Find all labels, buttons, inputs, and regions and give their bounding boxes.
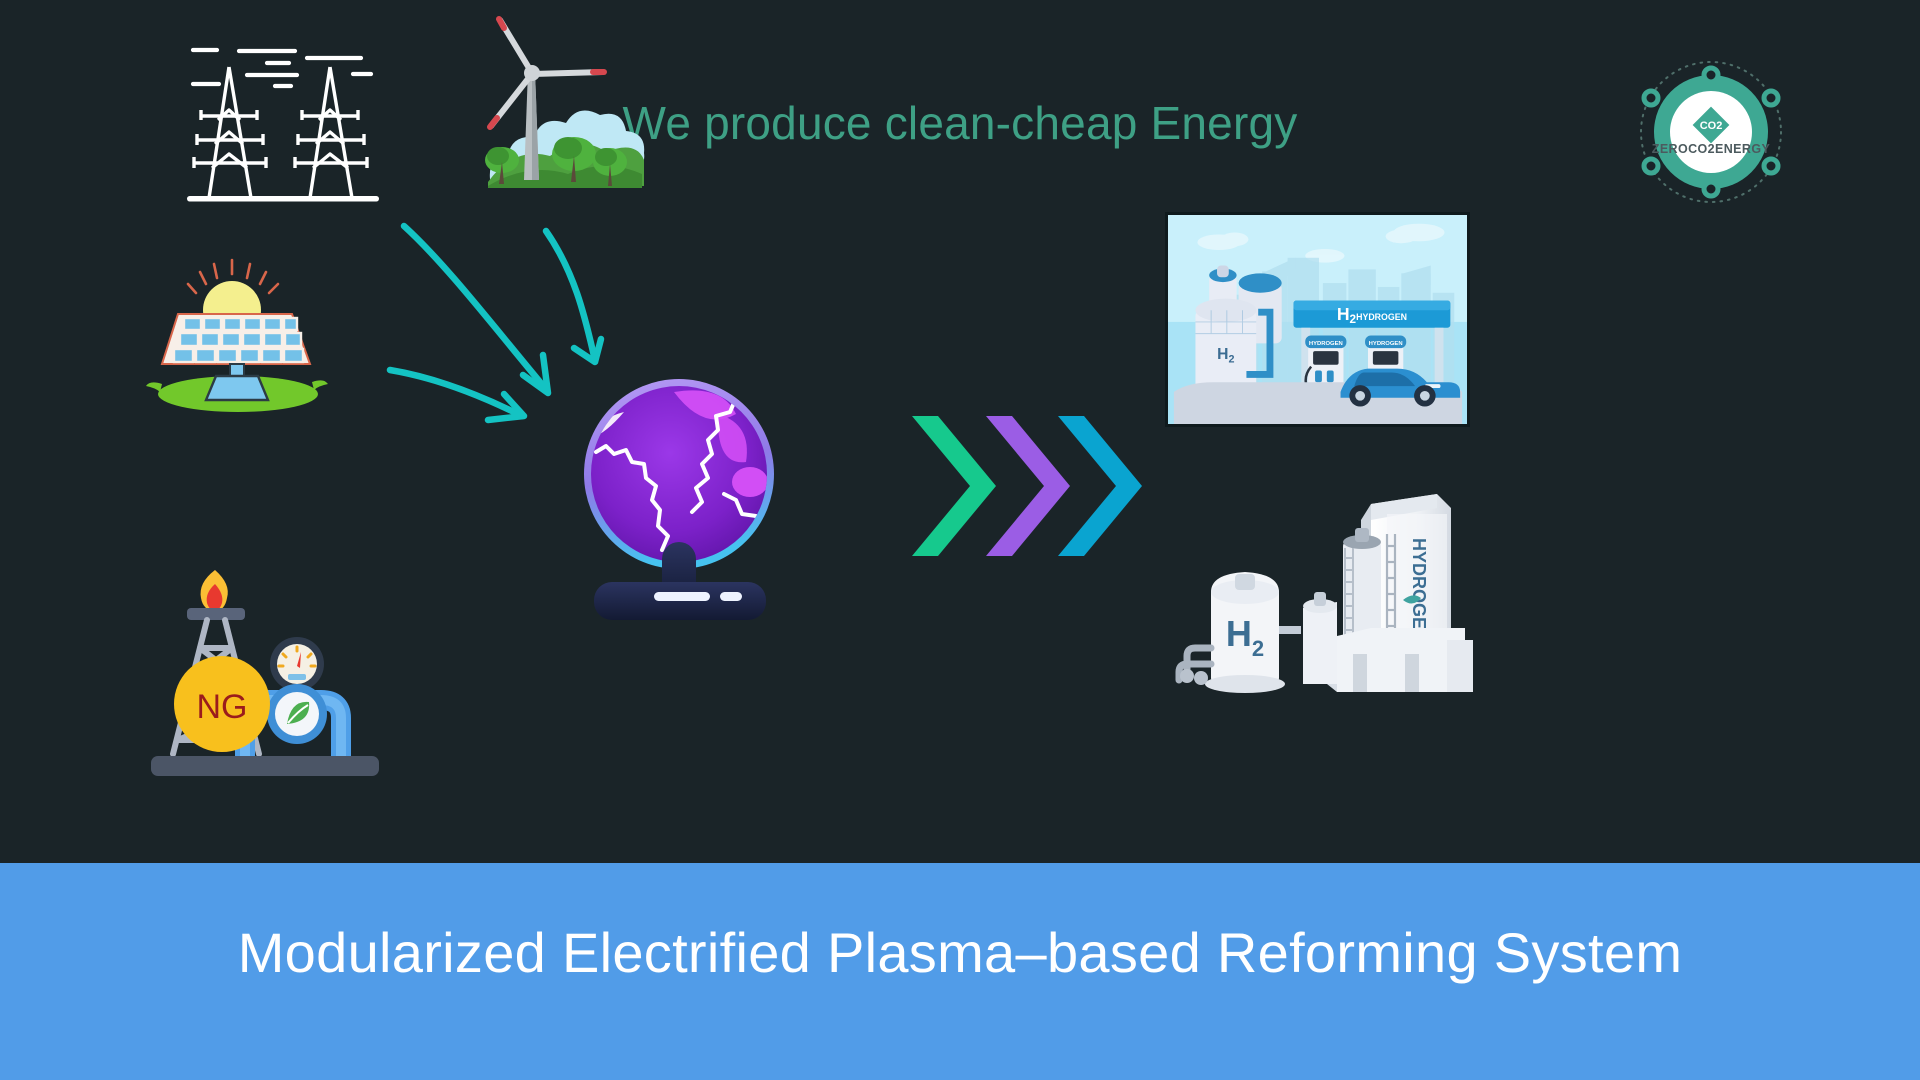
- chevron-cyan-icon: [1058, 416, 1142, 556]
- zeroco2energy-logo[interactable]: CO2 ZEROCO2ENERGY: [1606, 58, 1816, 206]
- banner-title: Modularized Electrified Plasma–based Ref…: [0, 920, 1920, 985]
- pump-label-right: HYDROGEN: [1369, 341, 1403, 347]
- ng-badge-label: NG: [197, 688, 248, 726]
- hydrogen-fueling-station-image: H2 H2HYDROGEN HYDROGEN: [1165, 212, 1470, 427]
- logo-wordmark: ZEROCO2ENERGY: [1652, 142, 1771, 156]
- canopy-sign-word: HYDROGEN: [1356, 312, 1407, 322]
- bottom-banner: Modularized Electrified Plasma–based Ref…: [0, 863, 1920, 1080]
- chevron-purple-icon: [986, 416, 1070, 556]
- logo-badge-label: CO2: [1700, 120, 1723, 132]
- pump-label-left: HYDROGEN: [1309, 341, 1343, 347]
- hydrogen-production-plant-icon: HYDROGEN: [1175, 478, 1475, 718]
- plasma-reactor-icon: [578, 370, 796, 630]
- logo-icon: CO2 ZEROCO2ENERGY: [1606, 58, 1816, 206]
- canopy-sign-symbol: H: [1337, 304, 1350, 324]
- conversion-flow-chevrons: [910, 412, 1142, 560]
- wind-turbine-icon: [462, 14, 667, 200]
- station-tank-label: H: [1217, 346, 1228, 363]
- plant-building-label: HYDROGEN: [1409, 538, 1429, 642]
- solar-panel-icon: [140, 258, 340, 418]
- power-transmission-towers-icon: [175, 32, 390, 214]
- chevron-green-icon: [912, 416, 996, 556]
- plant-tank-sub: 2: [1252, 636, 1264, 661]
- station-tank-sub: 2: [1229, 354, 1235, 366]
- plant-tank-label: H: [1226, 613, 1252, 654]
- slide-canvas: We produce clean-cheap Energy CO2 ZEROCO…: [0, 0, 1920, 1080]
- natural-gas-rig-icon: NG: [145, 562, 385, 792]
